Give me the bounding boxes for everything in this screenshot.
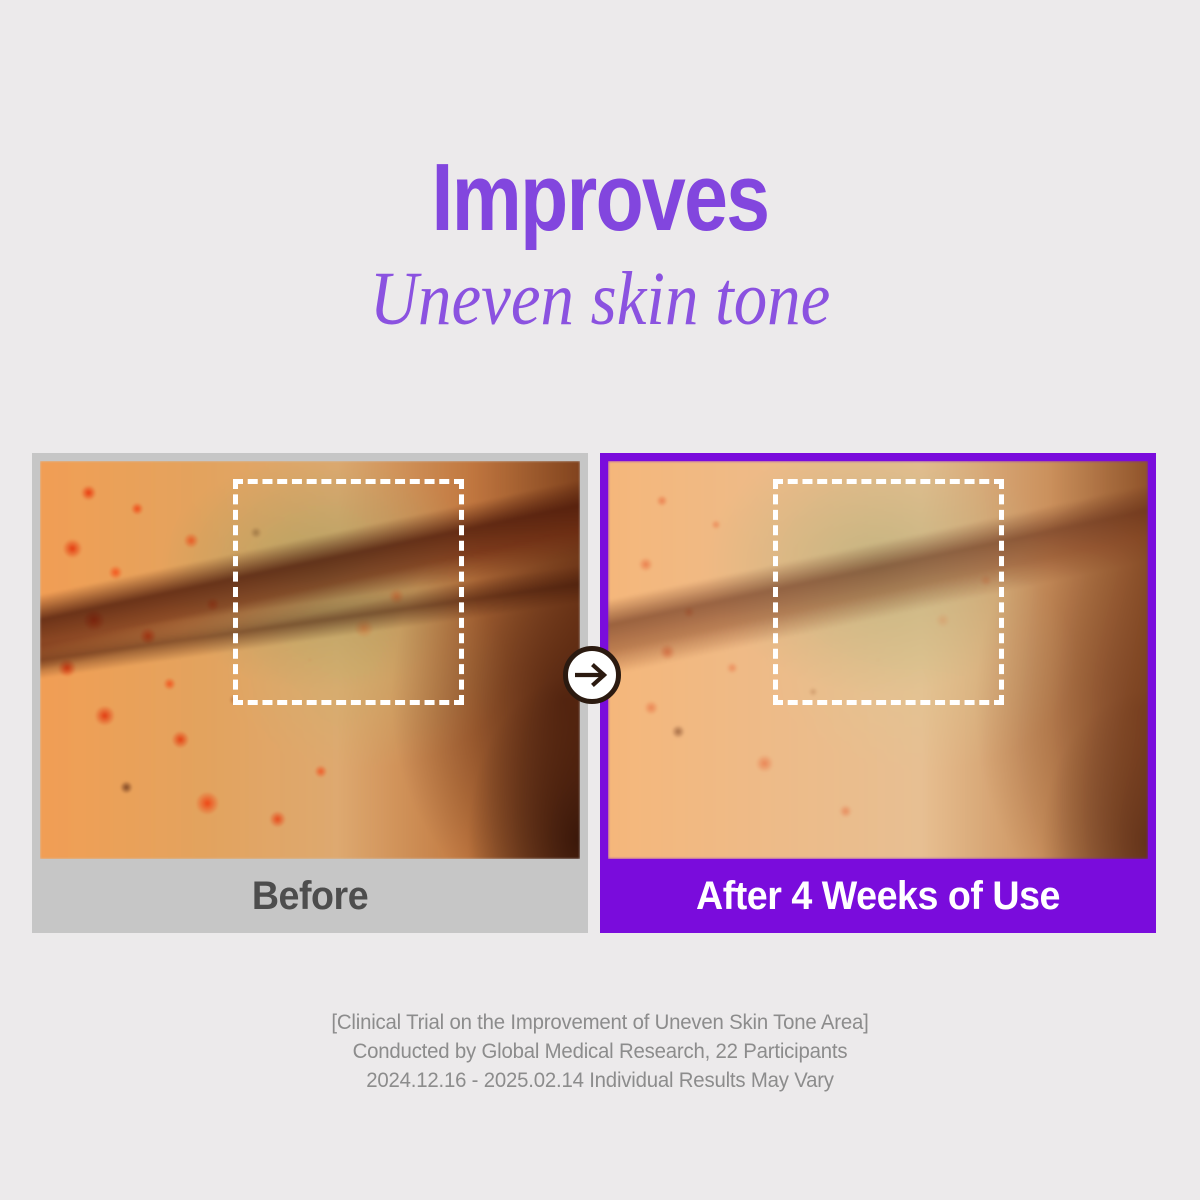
clinical-trial-disclaimer: [Clinical Trial on the Improvement of Un…: [0, 1008, 1200, 1095]
page-subtitle: Uneven skin tone: [72, 260, 1128, 340]
after-photo: [608, 461, 1148, 859]
disclaimer-line-2: Conducted by Global Medical Research, 22…: [18, 1037, 1182, 1066]
page-title: Improves: [108, 150, 1092, 246]
disclaimer-line-3: 2024.12.16 - 2025.02.14 Individual Resul…: [18, 1066, 1182, 1095]
promo-page: Improves Uneven skin tone Before After 4…: [0, 0, 1200, 1200]
before-caption: Before: [49, 859, 572, 933]
after-panel: After 4 Weeks of Use: [600, 453, 1156, 933]
before-photo: [40, 461, 580, 859]
skin-texture-before: [40, 461, 580, 859]
skin-texture-after: [608, 461, 1148, 859]
arrow-right-icon: [563, 646, 621, 704]
before-panel: Before: [32, 453, 588, 933]
disclaimer-line-1: [Clinical Trial on the Improvement of Un…: [18, 1008, 1182, 1037]
after-caption: After 4 Weeks of Use: [617, 859, 1140, 933]
heading-block: Improves Uneven skin tone: [0, 150, 1200, 340]
